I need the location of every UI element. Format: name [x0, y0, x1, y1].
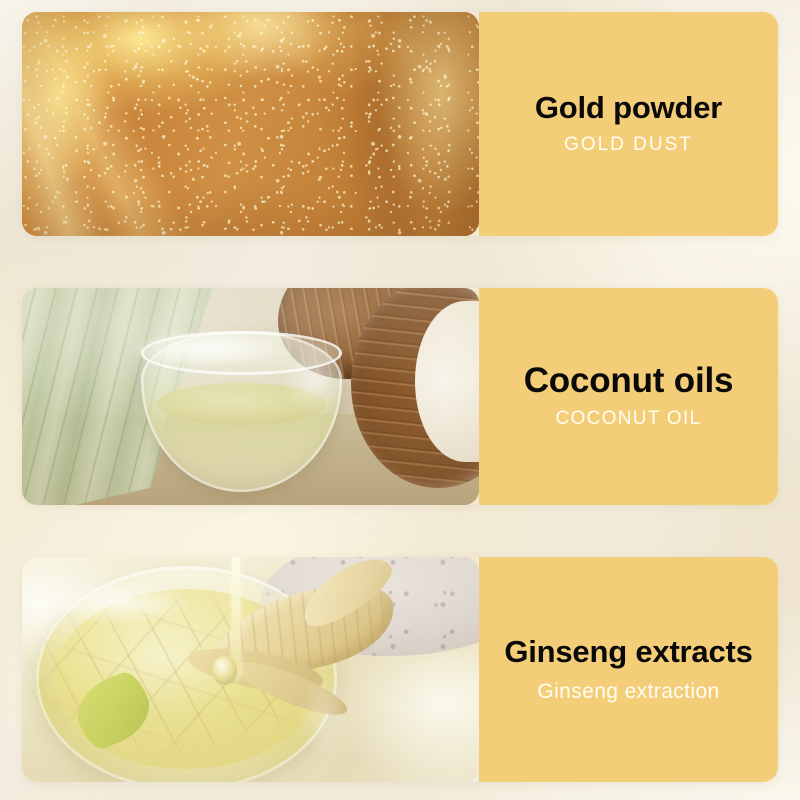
coconut-oils-label-panel: Coconut oils COCONUT OIL: [479, 288, 778, 505]
ginseng-extract-photo: [22, 557, 479, 782]
card-title: Gold powder: [535, 92, 722, 125]
gold-powder-photo: [22, 12, 479, 236]
coconut-color-wash: [22, 288, 479, 505]
ingredient-card-ginseng-extracts[interactable]: Ginseng extracts Ginseng extraction: [22, 557, 778, 782]
card-title: Coconut oils: [524, 363, 734, 400]
gold-powder-label-panel: Gold powder GOLD DUST: [479, 12, 778, 236]
card-title: Ginseng extracts: [504, 636, 752, 669]
ingredient-card-coconut-oils[interactable]: Coconut oils COCONUT OIL: [22, 288, 778, 505]
card-subtitle: Ginseng extraction: [537, 680, 719, 703]
gold-vignette-layer: [22, 12, 479, 236]
card-subtitle: COCONUT OIL: [556, 409, 702, 430]
ginseng-color-wash: [22, 557, 479, 782]
card-subtitle: GOLD DUST: [564, 135, 693, 156]
ginseng-extracts-label-panel: Ginseng extracts Ginseng extraction: [479, 557, 778, 782]
coconut-oil-photo: [22, 288, 479, 505]
ingredient-card-gold-powder[interactable]: Gold powder GOLD DUST: [22, 12, 778, 236]
